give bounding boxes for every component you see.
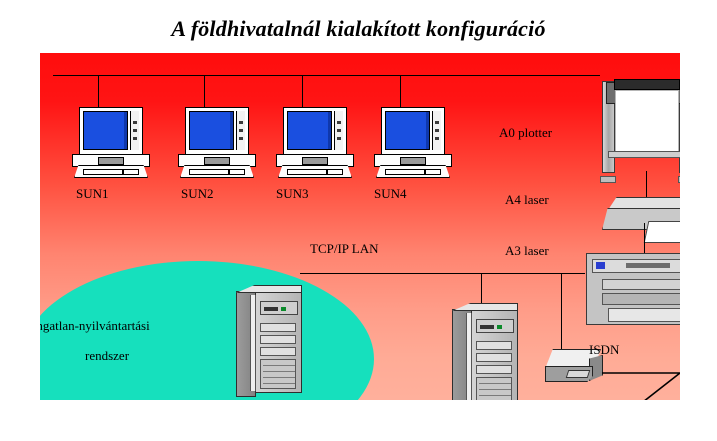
system-label-line1: Ingatlan-nyilvántartási <box>40 318 150 334</box>
screen <box>287 111 332 150</box>
plotter-foot-right <box>678 176 680 183</box>
keyboard-icon <box>376 165 450 178</box>
drop-wire-isdn <box>561 273 562 351</box>
drop-wire-sun3 <box>302 75 303 107</box>
plotter-label: A0 plotter <box>499 125 552 141</box>
screen <box>385 111 430 150</box>
lan-label: TCP/IP LAN <box>310 241 379 257</box>
monitor-icon <box>185 107 249 155</box>
keyboard-icon <box>180 165 254 178</box>
server-bay-3 <box>260 347 296 356</box>
screen <box>189 111 234 150</box>
printer-tray-2 <box>602 293 680 305</box>
modem-ports <box>566 370 591 378</box>
server-top <box>236 285 302 293</box>
printer-led <box>596 262 605 269</box>
plotter-paper <box>615 90 679 152</box>
a4-to-a3-wire <box>644 223 645 255</box>
server-drive-bay <box>260 301 298 315</box>
diagram-canvas: SUN1 SUN2 SUN3 <box>40 53 680 400</box>
workstation-sun1[interactable] <box>72 107 150 179</box>
server-strip <box>466 313 472 400</box>
trackpad <box>400 157 426 165</box>
monitor-icon <box>381 107 445 155</box>
tower-server-hp[interactable] <box>236 285 302 397</box>
trackpad <box>98 157 124 165</box>
laser-printer-large-icon[interactable] <box>586 253 680 325</box>
keyboard-icon <box>74 165 148 178</box>
server-strip <box>250 295 256 391</box>
a4-laser-label: A4 laser <box>505 192 549 208</box>
plotter-head <box>614 79 680 90</box>
plotter-post-right <box>679 81 680 173</box>
server-vent <box>476 377 512 400</box>
workstation-sun2[interactable] <box>178 107 256 179</box>
server-drive-bay <box>476 319 514 333</box>
lower-bus-wire <box>300 273 585 274</box>
isdn-label: ISDN <box>589 342 619 358</box>
system-label-line2: rendszer <box>85 348 129 364</box>
printer-slot <box>626 263 670 268</box>
monitor-controls <box>236 111 245 150</box>
plotter-post-left <box>602 81 615 173</box>
plotter-crossbar <box>608 151 680 158</box>
keyboard-icon <box>278 165 352 178</box>
printer-tray-3 <box>608 308 680 322</box>
a3-laser-label: A3 laser <box>505 243 549 259</box>
trackpad <box>204 157 230 165</box>
workstation-sun3[interactable] <box>276 107 354 179</box>
monitor-icon <box>283 107 347 155</box>
laser-printer-icon[interactable] <box>602 197 680 245</box>
workstation-label-sun4: SUN4 <box>374 186 407 202</box>
page-title: A földhivatalnál kialakított konfiguráci… <box>0 16 717 42</box>
screen <box>83 111 128 150</box>
server-bay-2 <box>260 335 296 344</box>
server-bay-3 <box>476 365 512 374</box>
trackpad <box>302 157 328 165</box>
server-vent <box>260 359 296 389</box>
workstation-label-sun2: SUN2 <box>181 186 214 202</box>
server-bay-2 <box>476 353 512 362</box>
drop-wire-sun1 <box>98 75 99 107</box>
printed-sheet <box>644 221 680 243</box>
monitor-icon <box>79 107 143 155</box>
drop-wire-sun-server <box>481 273 482 305</box>
plotter-stand-wire <box>646 171 647 199</box>
monitor-controls <box>130 111 139 150</box>
server-bay-1 <box>476 341 512 350</box>
monitor-controls <box>432 111 441 150</box>
plotter-icon[interactable] <box>598 75 680 183</box>
plotter-foot-left <box>600 176 616 183</box>
workstation-label-sun3: SUN3 <box>276 186 309 202</box>
printer-tray-1 <box>602 279 680 290</box>
zigzag-arrow-icon <box>600 361 680 400</box>
drop-wire-sun2 <box>204 75 205 107</box>
drop-wire-sun4 <box>400 75 401 107</box>
workstation-label-sun1: SUN1 <box>76 186 109 202</box>
server-bay-1 <box>260 323 296 332</box>
server-top <box>452 303 518 311</box>
workstation-sun4[interactable] <box>374 107 452 179</box>
tower-server-sun[interactable] <box>452 303 518 400</box>
upper-bus-wire <box>53 75 600 76</box>
monitor-controls <box>334 111 343 150</box>
